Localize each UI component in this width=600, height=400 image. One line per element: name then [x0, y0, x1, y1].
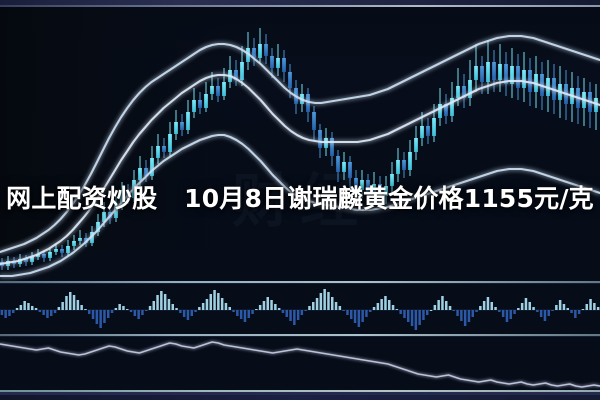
title-body: 10月8日谢瑞麟黄金价格1155元/克 [184, 184, 594, 213]
bottom-shadow-band [0, 395, 600, 400]
title-lead: 网上配资炒股 [6, 184, 157, 213]
indicator-line-series [0, 342, 600, 387]
top-highlight-line [0, 5, 600, 7]
chart-screenshot: 财经 网上配资炒股 10月8日谢瑞麟黄金价格1155元/克 [0, 0, 600, 400]
page-title: 网上配资炒股 10月8日谢瑞麟黄金价格1155元/克 [0, 182, 600, 216]
